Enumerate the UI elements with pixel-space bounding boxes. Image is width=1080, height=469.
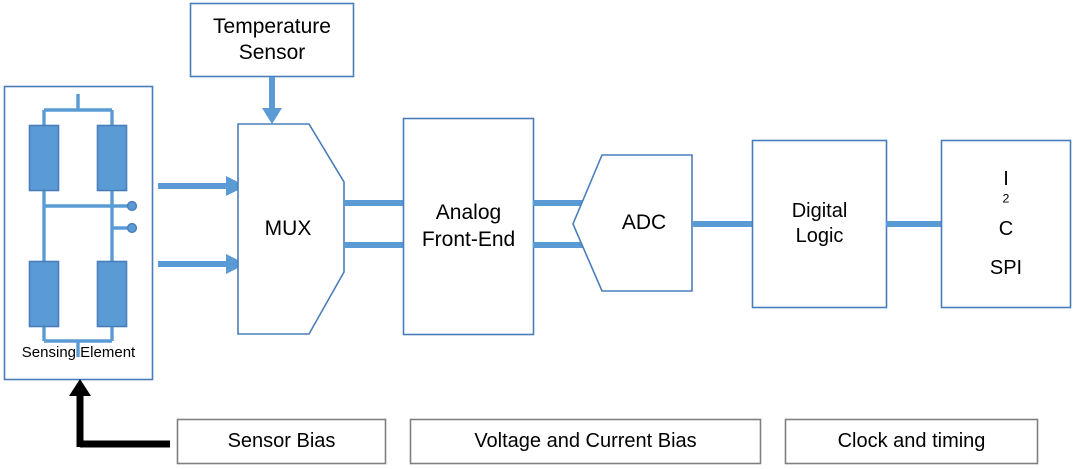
adc-block <box>573 155 692 291</box>
digital-logic-block <box>753 141 887 308</box>
resistor-r2 <box>98 126 127 191</box>
sensor-to-mux-arrows <box>158 176 246 274</box>
sensor-bias-to-sensing-element-arrow <box>69 379 170 447</box>
resistor-r4 <box>98 262 127 327</box>
interface-block <box>942 141 1071 308</box>
terminal-dot-lower <box>128 224 137 233</box>
mux-block <box>238 124 344 334</box>
resistor-r1 <box>30 126 59 191</box>
block-diagram-canvas: Temperature Sensor MUX Analog Front-End … <box>0 0 1080 469</box>
diagram-graphics <box>0 0 1080 469</box>
bottom-box-sensor-bias <box>178 420 386 464</box>
sensor-to-mux-arrow-bottom <box>158 254 246 274</box>
sensor-to-mux-arrow-top <box>158 176 246 196</box>
terminal-dot-upper <box>128 202 137 211</box>
temp-sensor-to-mux-arrow <box>262 77 282 124</box>
sensing-element-box <box>5 87 153 380</box>
bottom-box-clock-timing <box>786 420 1038 464</box>
bottom-box-voltage-current-bias <box>411 420 761 464</box>
temperature-sensor-box <box>191 4 354 77</box>
analog-front-end-block <box>404 119 534 335</box>
resistor-r3 <box>30 262 59 327</box>
mux-to-afe-wires <box>344 203 404 245</box>
